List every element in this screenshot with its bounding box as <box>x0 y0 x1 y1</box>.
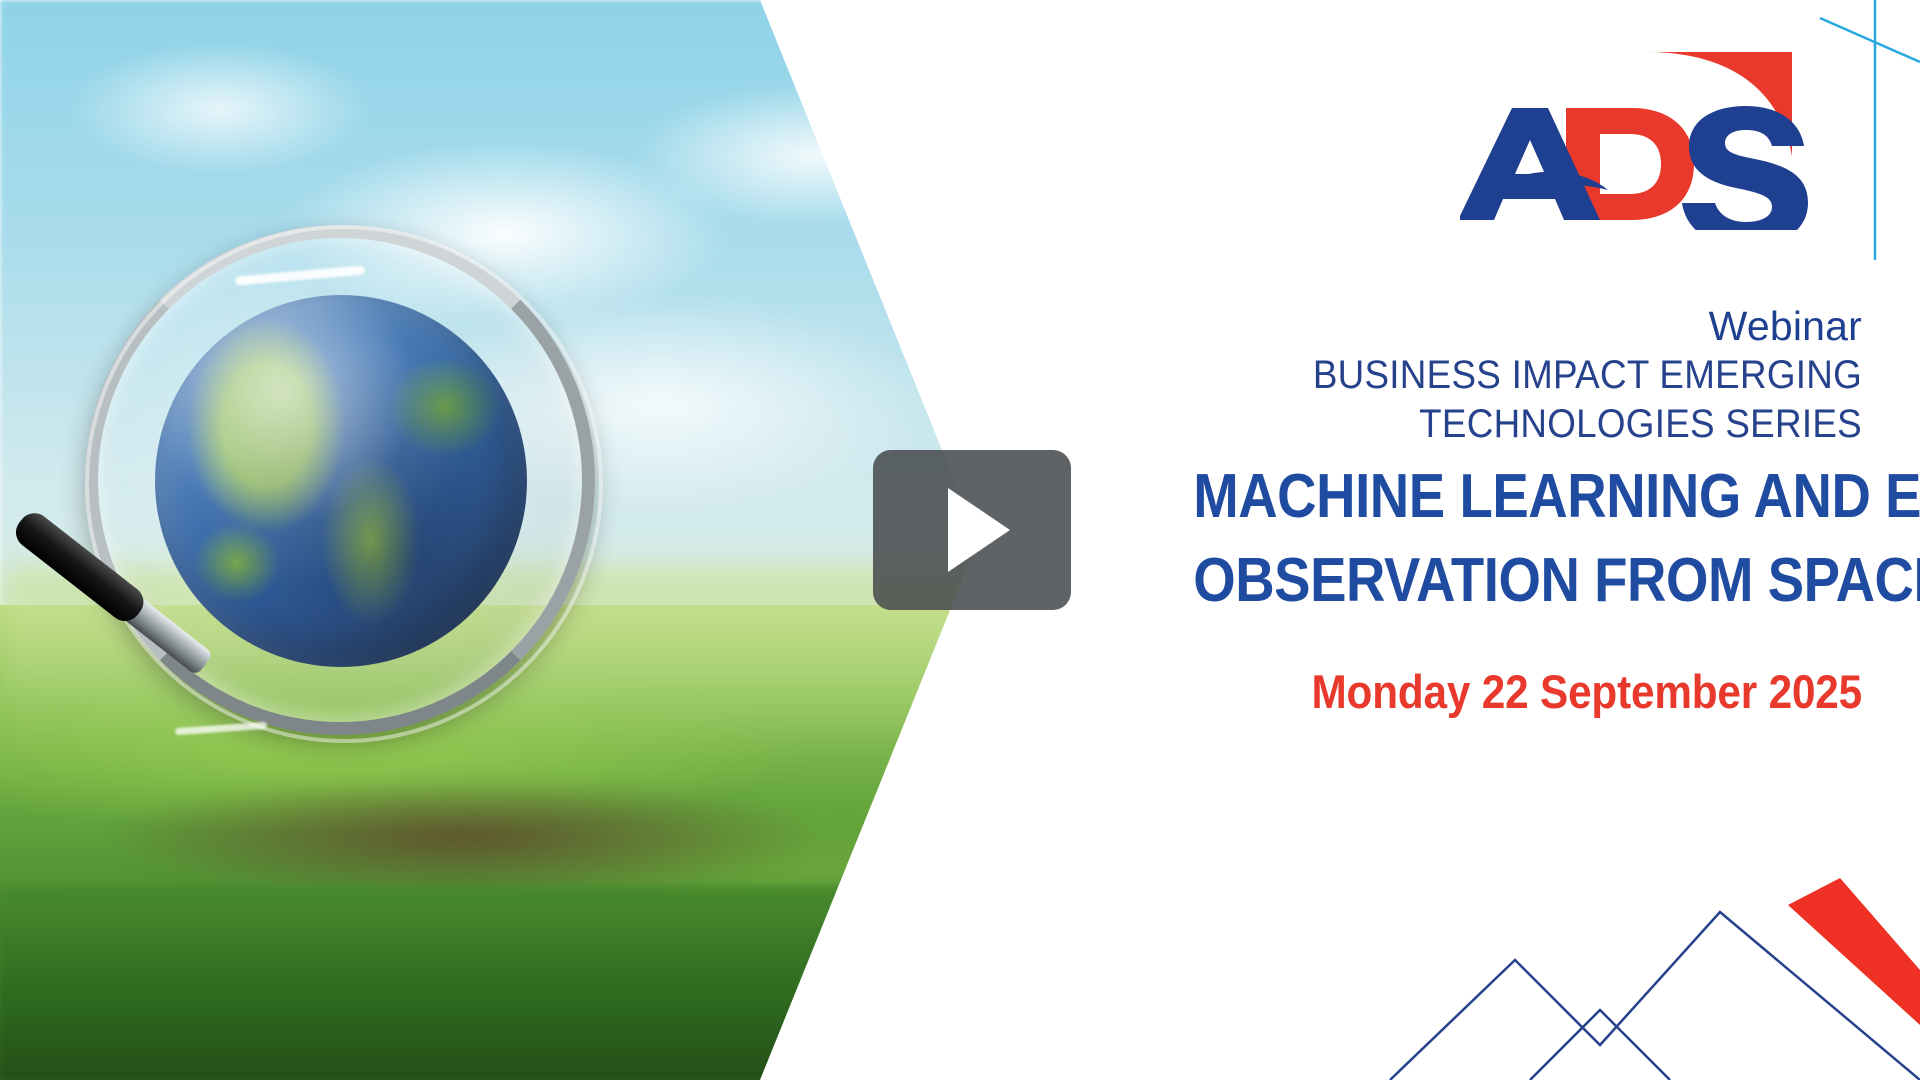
lens-glare-bottom <box>175 722 267 735</box>
content-panel: Webinar BUSINESS IMPACT EMERGING TECHNOL… <box>1100 0 1920 1080</box>
title-line-2: OBSERVATION FROM SPACE <box>1193 548 1862 614</box>
logo-letter-s <box>1682 106 1808 230</box>
webinar-promo-slide: Webinar BUSINESS IMPACT EMERGING TECHNOL… <box>0 0 1920 1080</box>
red-diagonal-bar <box>1788 878 1920 1025</box>
ads-logo[interactable] <box>1460 30 1860 230</box>
soil-patch <box>110 778 814 897</box>
kicker-label: Webinar <box>1102 305 1862 348</box>
text-block: Webinar BUSINESS IMPACT EMERGING TECHNOL… <box>1102 305 1862 719</box>
title-line-1: MACHINE LEARNING AND EARTH <box>1193 464 1862 530</box>
play-button[interactable] <box>873 450 1071 610</box>
event-date: Monday 22 September 2025 <box>1178 664 1862 719</box>
play-triangle-icon <box>948 488 1010 572</box>
bottom-corner-decoration <box>1300 850 1920 1080</box>
series-line-2: TECHNOLOGIES SERIES <box>1163 403 1862 446</box>
magnifying-glass-icon <box>55 215 625 775</box>
series-line-1: BUSINESS IMPACT EMERGING <box>1163 354 1862 397</box>
lens-ring <box>85 225 595 735</box>
